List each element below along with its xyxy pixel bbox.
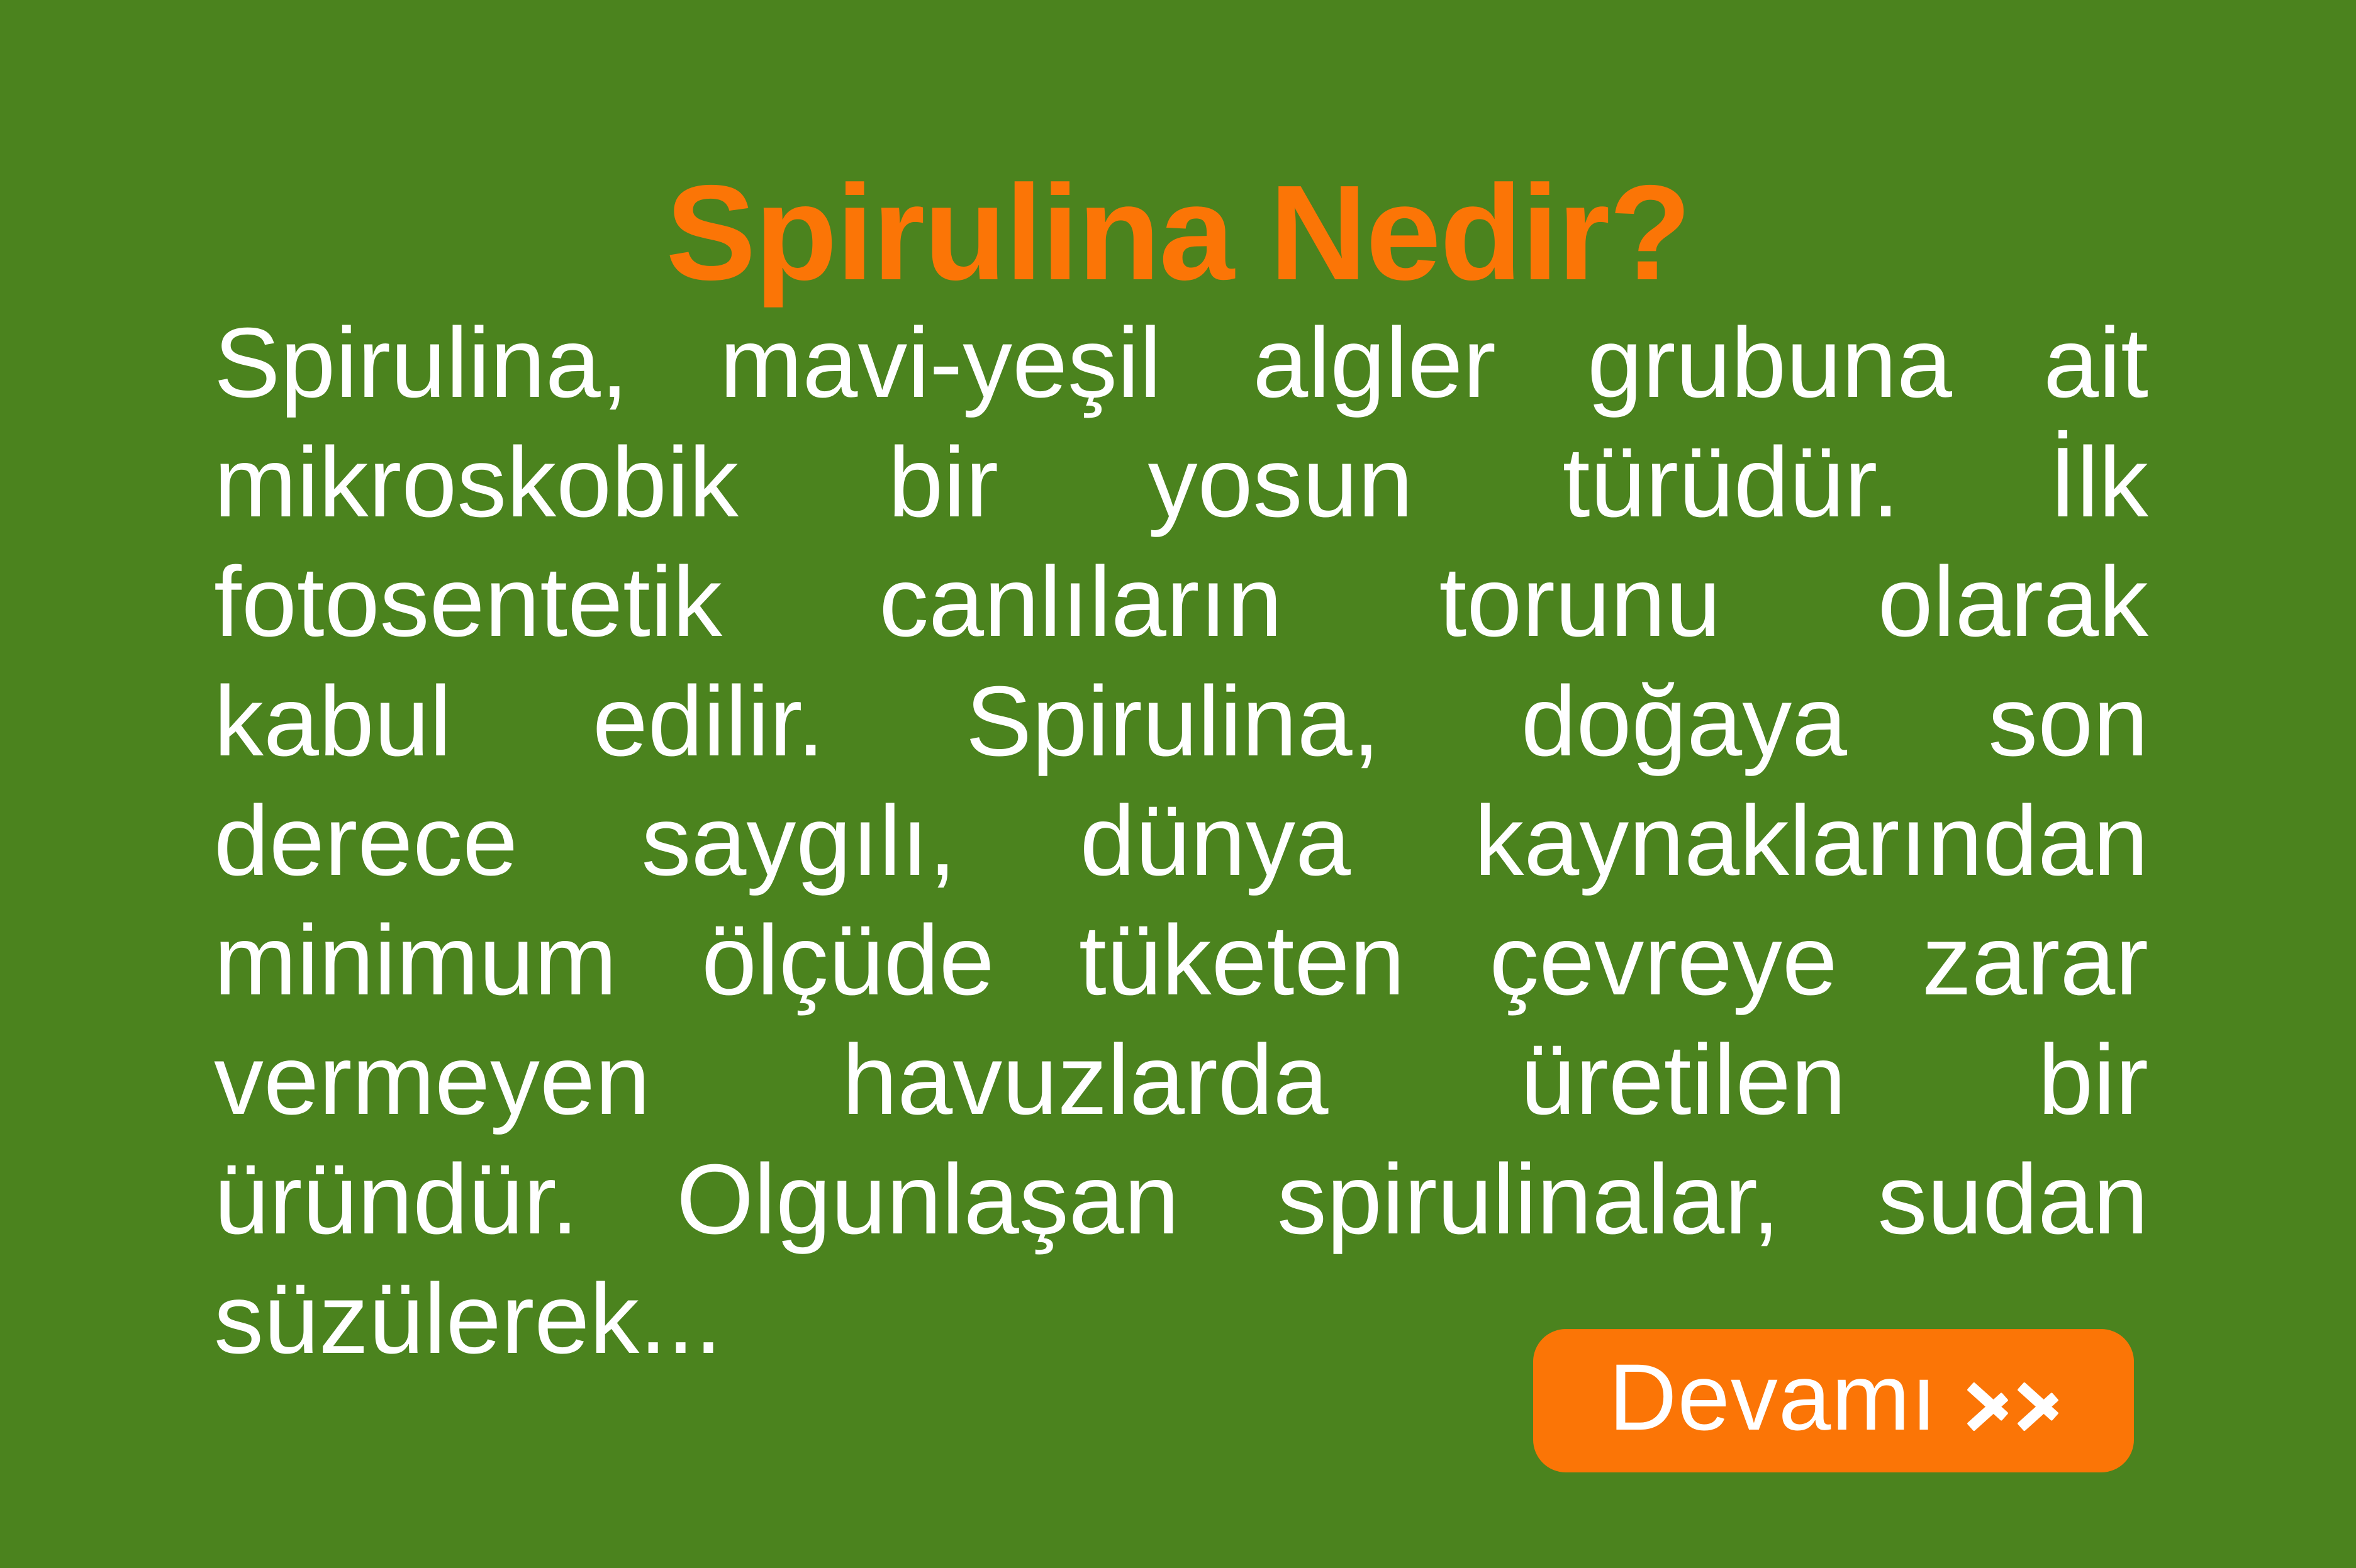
article-line: vermeyen havuzlarda üretilen bir (214, 1020, 2148, 1140)
word: ait (2043, 303, 2148, 423)
word: vermeyen (214, 1020, 650, 1140)
article-line: üründür. Olgunlaşan spirulinalar, sudan (214, 1140, 2148, 1259)
article-line: kabul edilir. Spirulina, doğaya son (214, 662, 2148, 781)
word: dünya (1080, 781, 1351, 901)
word: Spirulina, (214, 303, 628, 423)
word: bir (2038, 1020, 2148, 1140)
article-line: fotosentetik canlıların torunu olarak (214, 542, 2148, 662)
word: Spirulina, (966, 662, 1380, 781)
word: sudan (1877, 1140, 2148, 1259)
word: üretilen (1520, 1020, 1846, 1140)
word: havuzlarda (842, 1020, 1329, 1140)
word: İlk (2049, 423, 2148, 542)
article-line: derece saygılı, dünya kaynaklarından (214, 781, 2148, 901)
word: Olgunlaşan (676, 1140, 1179, 1259)
word: son (1988, 662, 2148, 781)
read-more-label: Devamı (1609, 1350, 1938, 1444)
article-line: minimum ölçüde tüketen çevreye zarar (214, 901, 2148, 1020)
word: derece (214, 781, 518, 901)
double-chevron-right-icon (1967, 1365, 2058, 1436)
word: bir (888, 423, 999, 542)
word: saygılı, (642, 781, 957, 901)
word: türüdür. (1563, 423, 1900, 542)
word: zarar (1922, 901, 2148, 1020)
word: doğaya (1521, 662, 1847, 781)
word: canlıların (879, 542, 1282, 662)
word: tüketen (1079, 901, 1405, 1020)
word: kaynaklarından (1474, 781, 2148, 901)
word: ölçüde (701, 901, 995, 1020)
word: süzülerek... (214, 1259, 722, 1379)
article-line: mikroskobik bir yosun türüdür. İlk (214, 423, 2148, 542)
article-body: Spirulina, mavi-yeşil algler grubuna ait… (214, 303, 2148, 1379)
word: kabul (214, 662, 452, 781)
word: mikroskobik (214, 423, 739, 542)
word: spirulinalar, (1277, 1140, 1780, 1259)
word: algler (1253, 303, 1495, 423)
read-more-button[interactable]: Devamı (1533, 1329, 2134, 1472)
word: yosun (1148, 423, 1414, 542)
word: grubuna (1587, 303, 1952, 423)
word: üründür. (214, 1140, 579, 1259)
word: fotosentetik (214, 542, 722, 662)
article-line: Spirulina, mavi-yeşil algler grubuna ait (214, 303, 2148, 423)
word: minimum (214, 901, 617, 1020)
word: olarak (1878, 542, 2148, 662)
spirulina-info-card: Spirulina Nedir? Spirulina, mavi-yeşil a… (0, 0, 2356, 1568)
word: mavi-yeşil (720, 303, 1161, 423)
page-title: Spirulina Nedir? (0, 165, 2356, 300)
word: çevreye (1489, 901, 1837, 1020)
word: edilir. (593, 662, 825, 781)
word: torunu (1439, 542, 1721, 662)
